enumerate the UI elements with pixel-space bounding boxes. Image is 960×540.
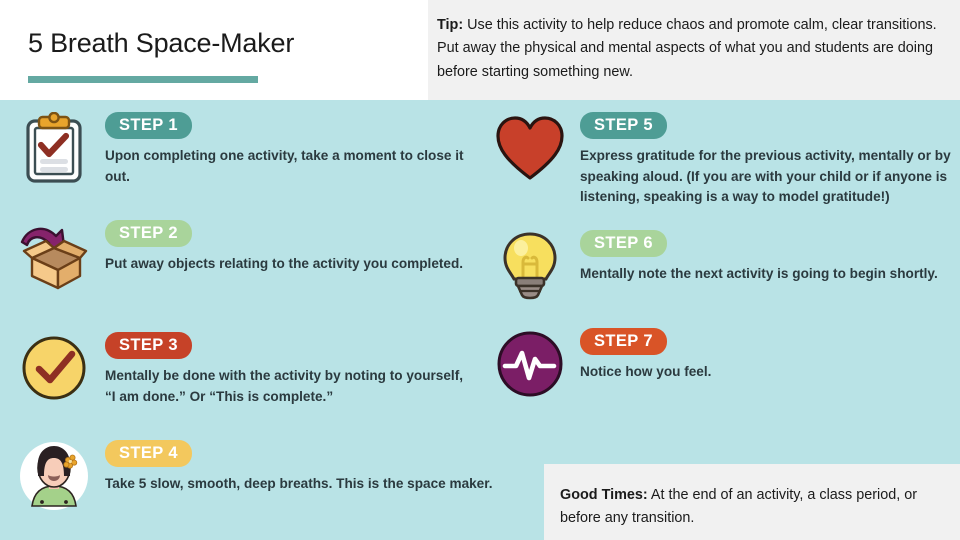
- step-description-7: Notice how you feel.: [580, 362, 960, 382]
- tip-callout: Tip: Use this activity to help reduce ch…: [437, 14, 949, 84]
- step-description-3: Mentally be done with the activity by no…: [105, 366, 477, 406]
- box-put-away-icon: [18, 220, 90, 292]
- step-body-3: STEP 3 Mentally be done with the activit…: [105, 332, 477, 407]
- step-description-4: Take 5 slow, smooth, deep breaths. This …: [105, 474, 500, 494]
- step-badge-1: STEP 1: [105, 112, 192, 139]
- step-body-2: STEP 2 Put away objects relating to the …: [105, 220, 485, 275]
- heart-icon: [494, 112, 566, 184]
- step-body-1: STEP 1 Upon completing one activity, tak…: [105, 112, 475, 187]
- tip-label: Tip:: [437, 17, 463, 33]
- tip-text: Use this activity to help reduce chaos a…: [437, 17, 937, 80]
- check-circle-icon: [18, 332, 90, 404]
- step-description-2: Put away objects relating to the activit…: [105, 254, 485, 274]
- pulse-circle-icon: [494, 328, 566, 400]
- title-underline-rule: [28, 76, 258, 83]
- step-badge-5: STEP 5: [580, 112, 667, 139]
- step-body-5: STEP 5 Express gratitude for the previou…: [580, 112, 955, 207]
- step-badge-4: STEP 4: [105, 440, 192, 467]
- step-badge-3: STEP 3: [105, 332, 192, 359]
- header-bar: 5 Breath Space-Maker Tip: Use this activ…: [0, 0, 960, 100]
- step-badge-7: STEP 7: [580, 328, 667, 355]
- good-times-text: Good Times: At the end of an activity, a…: [560, 484, 944, 531]
- step-description-6: Mentally note the next activity is going…: [580, 264, 960, 284]
- good-times-callout: Good Times: At the end of an activity, a…: [544, 464, 960, 540]
- step-description-5: Express gratitude for the previous activ…: [580, 146, 955, 206]
- lightbulb-icon: [494, 230, 566, 302]
- page-title: 5 Breath Space-Maker: [28, 28, 418, 59]
- step-body-4: STEP 4 Take 5 slow, smooth, deep breaths…: [105, 440, 500, 495]
- good-times-label: Good Times:: [560, 487, 648, 503]
- step-description-1: Upon completing one activity, take a mom…: [105, 146, 475, 186]
- person-avatar-icon: [18, 440, 90, 512]
- step-badge-6: STEP 6: [580, 230, 667, 257]
- step-badge-2: STEP 2: [105, 220, 192, 247]
- step-body-6: STEP 6 Mentally note the next activity i…: [580, 230, 960, 285]
- clipboard-check-icon: [18, 112, 90, 184]
- step-body-7: STEP 7 Notice how you feel.: [580, 328, 960, 383]
